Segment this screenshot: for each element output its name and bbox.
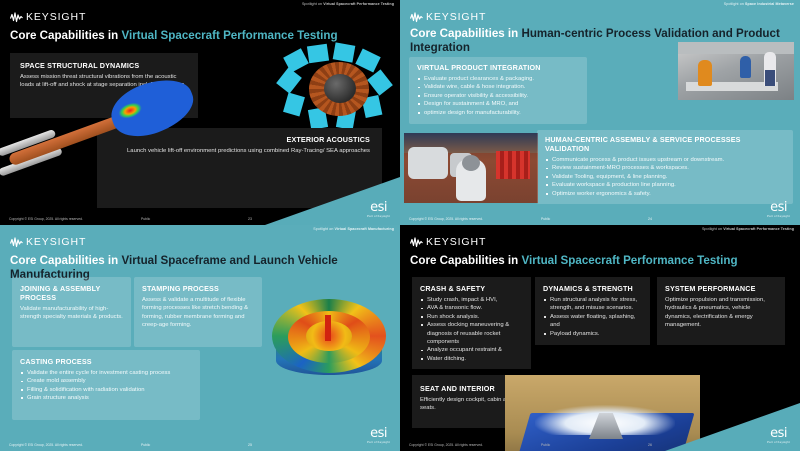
footer-classification: Public (141, 443, 150, 447)
cabin-assembly-vr-photo (678, 42, 794, 100)
card-bullet-list: Run structural analysis for stress, stre… (543, 296, 642, 338)
keysight-wave-icon (410, 237, 423, 248)
card-heading: CASTING PROCESS (20, 357, 192, 366)
mars-habitat-astronaut-photo (404, 133, 538, 203)
keysight-logo: KEYSIGHT (410, 236, 486, 248)
card-heading: JOINING & ASSEMBLY PROCESS (20, 284, 123, 302)
footer-page-number: 26 (648, 443, 652, 447)
list-item: Assess docking maneuvering & diagnosis o… (420, 321, 523, 346)
keysight-wordmark: KEYSIGHT (426, 11, 486, 23)
slide-human-centric-process-validation: Spotlight on Space Industrial Metaverse … (400, 0, 800, 225)
list-item: Validate Tooling, equipment, & line plan… (545, 173, 785, 181)
spotlight-label: Spotlight on Virtual Spacecraft Manufact… (313, 227, 394, 231)
esi-tagline: Part of Keysight (767, 440, 790, 444)
card-joining-and-assembly-process: JOINING & ASSEMBLY PROCESS Validate manu… (12, 277, 131, 347)
footer-classification: Public (541, 443, 550, 447)
esi-tagline: Part of Keysight (767, 214, 790, 218)
esi-wordmark: esi (767, 427, 790, 440)
card-stamping-process: STAMPING PROCESS Assess & validate a mul… (134, 277, 262, 347)
slide-footer: Copyright © ESI Group, 2025. All rights … (0, 208, 400, 225)
card-human-centric-assembly-service-processes-validation: HUMAN-CENTRIC ASSEMBLY & SERVICE PROCESS… (537, 130, 793, 204)
list-item: Validate the entire cycle for investment… (20, 369, 192, 377)
list-item: Validate wire, cable & hose integration. (417, 83, 579, 91)
list-item: Ensure operator visibility & accessibili… (417, 92, 579, 100)
card-body: Assess & validate a multitude of flexibl… (142, 296, 254, 330)
card-heading: STAMPING PROCESS (142, 284, 254, 293)
card-casting-process: CASTING PROCESS Validate the entire cycl… (12, 350, 200, 420)
list-item: Analyze occupant restraint & (420, 346, 523, 354)
esi-tagline: Part of Keysight (367, 214, 390, 218)
list-item: Optimize worker ergonomics & safety. (545, 190, 785, 198)
esi-wordmark: esi (367, 427, 390, 440)
list-item: Run structural analysis for stress, stre… (543, 296, 642, 313)
keysight-logo: KEYSIGHT (10, 11, 86, 23)
esi-wordmark: esi (767, 201, 790, 214)
esi-logo: esi Part of Keysight (767, 201, 790, 219)
card-system-performance: SYSTEM PERFORMANCE Optimize propulsion a… (657, 277, 785, 345)
esi-logo: esi Part of Keysight (367, 427, 390, 445)
list-item: Design for sustainment & MRO, and (417, 100, 579, 108)
list-item: AVA & transonic flow. (420, 304, 523, 312)
satellite-structure-render (284, 48, 394, 130)
card-body: Validate manufacturability of high-stren… (20, 305, 123, 322)
esi-logo: esi Part of Keysight (367, 201, 390, 219)
footer-page-number: 23 (248, 217, 252, 221)
keysight-wordmark: KEYSIGHT (26, 11, 86, 23)
card-bullet-list: Study crash, impact & HVI, AVA & transon… (420, 296, 523, 363)
slide-virtual-spacecraft-performance-testing: Spotlight on Virtual Spacecraft Performa… (0, 0, 400, 225)
card-crash-and-safety: CRASH & SAFETY Study crash, impact & HVI… (412, 277, 531, 369)
list-item: Communicate process & product issues ups… (545, 156, 785, 164)
card-dynamics-and-strength: DYNAMICS & STRENGTH Run structural analy… (535, 277, 650, 345)
card-bullet-list: Communicate process & product issues ups… (545, 156, 785, 198)
list-item: Run shock analysis. (420, 313, 523, 321)
card-heading: HUMAN-CENTRIC ASSEMBLY & SERVICE PROCESS… (545, 135, 785, 153)
footer-copyright: Copyright © ESI Group, 2025. All rights … (9, 217, 83, 221)
list-item: Assess water floating, splashing, and (543, 313, 642, 330)
list-item: optimize design for manufacturability. (417, 109, 579, 117)
footer-classification: Public (541, 217, 550, 221)
list-item: Payload dynamics. (543, 330, 642, 338)
slide-virtual-spacecraft-performance-testing-2: Spotlight on Virtual Spacecraft Performa… (400, 225, 800, 451)
list-item: Filling & solidification with radiation … (20, 386, 192, 394)
footer-copyright: Copyright © ESI Group, 2025. All rights … (409, 443, 483, 447)
card-bullet-list: Validate the entire cycle for investment… (20, 369, 192, 403)
footer-copyright: Copyright © ESI Group, 2025. All rights … (9, 443, 83, 447)
esi-wordmark: esi (367, 201, 390, 214)
card-heading: SYSTEM PERFORMANCE (665, 284, 777, 293)
card-bullet-list: Evaluate product clearances & packaging.… (417, 75, 579, 117)
footer-page-number: 24 (648, 217, 652, 221)
slide-grid: Spotlight on Virtual Spacecraft Performa… (0, 0, 800, 451)
slide-footer: Copyright © ESI Group, 2025. All rights … (400, 434, 800, 451)
keysight-wave-icon (10, 237, 23, 248)
keysight-wordmark: KEYSIGHT (426, 236, 486, 248)
card-virtual-product-integration: VIRTUAL PRODUCT INTEGRATION Evaluate pro… (409, 57, 587, 124)
keysight-wave-icon (10, 12, 23, 23)
list-item: Study crash, impact & HVI, (420, 296, 523, 304)
spotlight-label: Spotlight on Virtual Spacecraft Performa… (302, 2, 394, 6)
page-title: Core Capabilities in Virtual Spacecraft … (410, 254, 786, 268)
list-item: Review sustainment-MRO processes & works… (545, 164, 785, 172)
page-title: Core Capabilities in Virtual Spacecraft … (10, 29, 386, 43)
slide-virtual-spaceframe-manufacturing: Spotlight on Virtual Spacecraft Manufact… (0, 225, 400, 451)
slide-footer: Copyright © ESI Group, 2025. All rights … (0, 434, 400, 451)
esi-logo: esi Part of Keysight (767, 427, 790, 445)
list-item: Evaluate product clearances & packaging. (417, 75, 579, 83)
card-heading: VIRTUAL PRODUCT INTEGRATION (417, 63, 579, 72)
slide-footer: Copyright © ESI Group, 2025. All rights … (400, 208, 800, 225)
card-heading: DYNAMICS & STRENGTH (543, 284, 642, 293)
list-item: Evaluate workspace & production line pla… (545, 181, 785, 189)
footer-copyright: Copyright © ESI Group, 2025. All rights … (409, 217, 483, 221)
keysight-logo: KEYSIGHT (10, 236, 86, 248)
footer-page-number: 25 (248, 443, 252, 447)
footer-classification: Public (141, 217, 150, 221)
list-item: Water ditching. (420, 355, 523, 363)
keysight-logo: KEYSIGHT (410, 11, 486, 23)
list-item: Grain structure analysis (20, 394, 192, 402)
card-heading: CRASH & SAFETY (420, 284, 523, 293)
list-item: Create mold assembly (20, 377, 192, 385)
spotlight-label: Spotlight on Virtual Spacecraft Performa… (702, 227, 794, 231)
card-body: Optimize propulsion and transmission, hy… (665, 296, 777, 330)
casting-simulation-render (266, 287, 392, 387)
keysight-wave-icon (410, 12, 423, 23)
esi-tagline: Part of Keysight (367, 440, 390, 444)
keysight-wordmark: KEYSIGHT (26, 236, 86, 248)
spotlight-label: Spotlight on Space Industrial Metaverse (724, 2, 794, 6)
card-body: Launch vehicle lift-off environment pred… (109, 147, 370, 155)
